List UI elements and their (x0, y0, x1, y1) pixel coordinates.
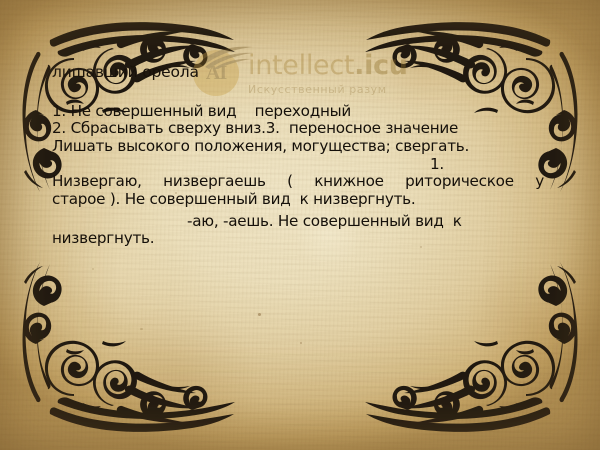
parchment-page: AI intellect.icu Искусственный разум лиш… (0, 0, 600, 450)
parchment-vignette (0, 0, 600, 450)
